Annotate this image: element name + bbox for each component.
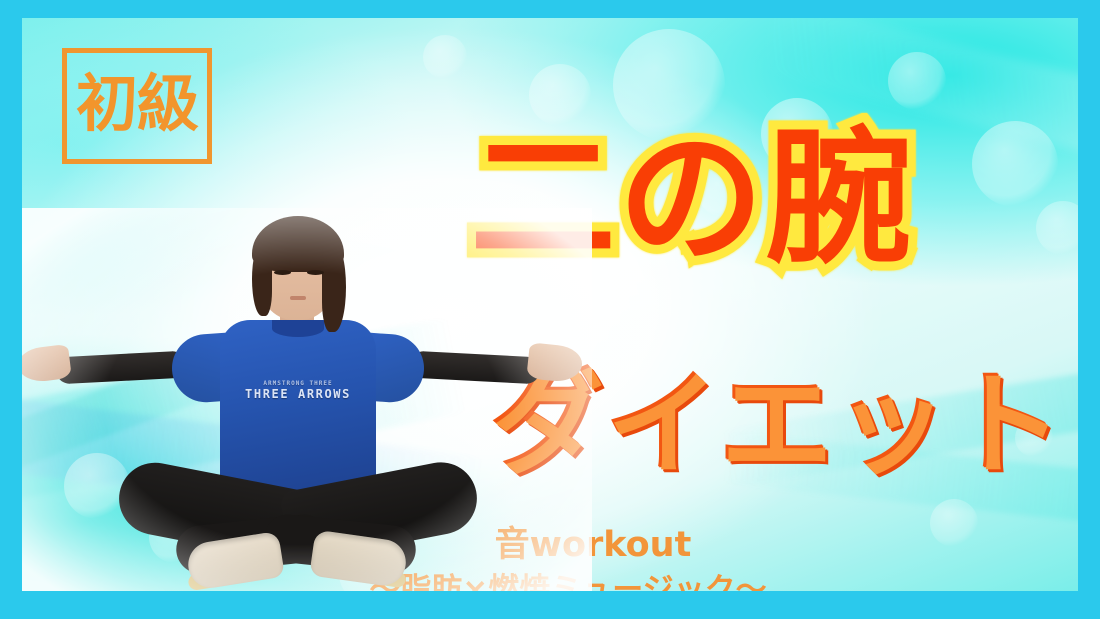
bokeh-circle-icon	[888, 52, 946, 110]
light-ray-icon	[22, 336, 264, 480]
bokeh-circle-icon	[1036, 201, 1078, 255]
eyebrow-left-icon	[273, 261, 291, 264]
collar-icon	[272, 320, 324, 337]
sleeve-left-icon	[55, 351, 186, 385]
bokeh-circle-icon	[423, 35, 467, 79]
head-icon	[258, 226, 336, 320]
eyebrow-right-icon	[306, 261, 324, 264]
shirt-brand-text: ARMSTRONG THREE THREE ARROWS	[230, 380, 366, 401]
title-line-1: 二の腕	[470, 126, 914, 272]
level-badge: 初級	[62, 48, 212, 164]
light-ray-icon	[22, 393, 489, 531]
shoulder-left-icon	[170, 332, 249, 405]
eye-left-icon	[274, 270, 291, 275]
thumbnail-canvas: 初級 ARMSTRONG THREE THREE ARROWS	[22, 18, 1078, 591]
bokeh-circle-icon	[233, 431, 273, 471]
shirt-brand-small: ARMSTRONG THREE	[230, 380, 366, 387]
eye-right-icon	[307, 270, 324, 275]
bokeh-circle-icon	[972, 121, 1058, 207]
caption-sub: 〜脂肪×燃焼ミュージック〜	[22, 564, 1078, 591]
video-thumbnail: 初級 ARMSTRONG THREE THREE ARROWS	[0, 0, 1100, 619]
caption-main: 音workout	[22, 516, 1078, 567]
title-line-2: ダイエット	[492, 370, 1066, 482]
mouth-icon	[290, 296, 306, 300]
level-badge-label: 初級	[76, 73, 198, 135]
neck-icon	[280, 308, 314, 334]
shoulder-right-icon	[348, 332, 427, 405]
hair-left-icon	[252, 242, 272, 316]
hand-left-icon	[22, 344, 72, 384]
torso-icon	[220, 320, 376, 508]
light-ray-icon	[22, 316, 470, 504]
hair-icon	[252, 216, 344, 272]
shirt-brand-main: THREE ARROWS	[245, 387, 351, 401]
bokeh-circle-icon	[64, 453, 130, 519]
hair-right-icon	[322, 242, 346, 332]
